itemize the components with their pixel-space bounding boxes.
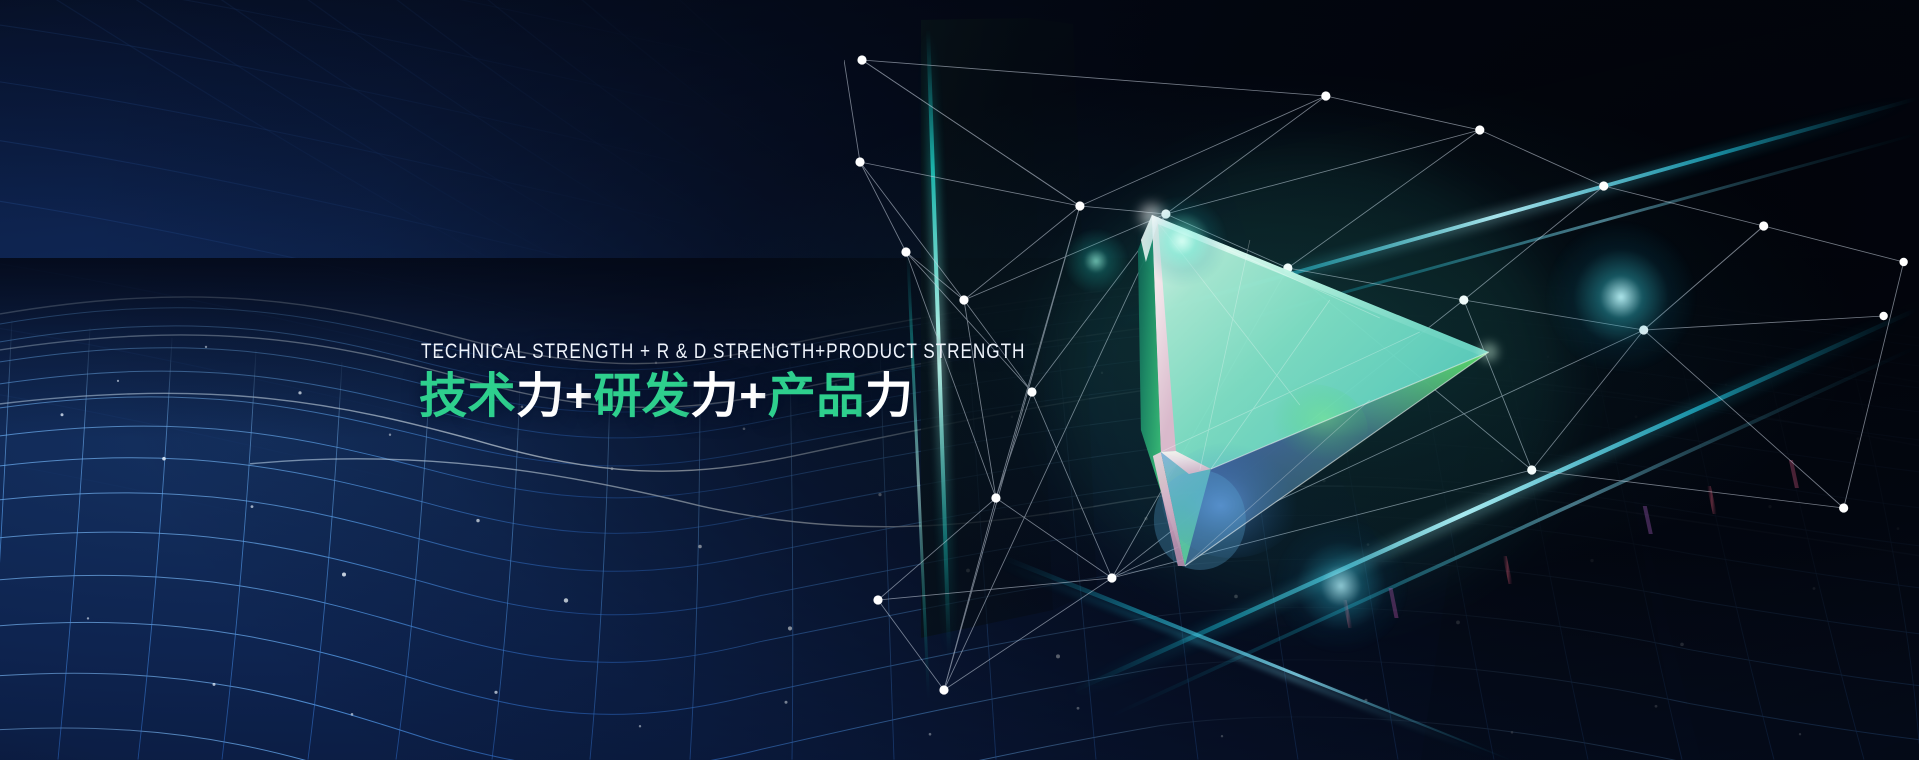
headline-segment-0: 技术	[419, 370, 516, 423]
lens-flare-right	[1546, 222, 1696, 372]
headline-segment-3: 研发	[593, 370, 690, 423]
headline-segment-7: 力	[865, 370, 914, 423]
lens-flare-top	[1137, 196, 1227, 286]
headline-segment-2: +	[565, 370, 594, 423]
hero-eyebrow-english: TECHNICAL STRENGTH + R & D STRENGTH+PROD…	[421, 338, 1025, 364]
lens-flare-bottom	[1275, 520, 1407, 652]
headline-segment-4: 力	[691, 370, 740, 423]
hero-headline-chinese: 技术力+研发力+产品力	[419, 368, 1177, 426]
headline-segment-6: 产品	[768, 370, 865, 423]
lens-flare-column	[1063, 228, 1129, 294]
headline-segment-1: 力	[516, 370, 565, 423]
headline-segment-5: +	[739, 370, 768, 423]
hero-banner: TECHNICAL STRENGTH + R & D STRENGTH+PROD…	[0, 0, 1919, 760]
hero-copy-block: TECHNICAL STRENGTH + R & D STRENGTH+PROD…	[421, 338, 1177, 426]
